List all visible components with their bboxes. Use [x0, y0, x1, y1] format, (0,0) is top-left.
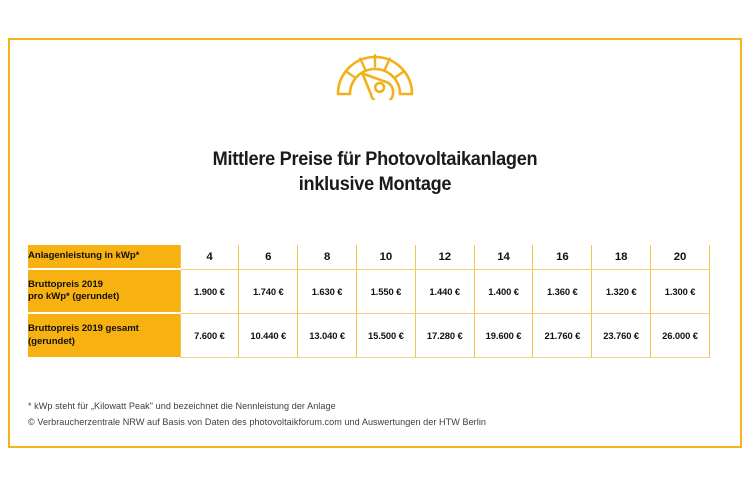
table-row-price-per-kwp: Bruttopreis 2019 pro kWp* (gerundet) 1.9… [28, 269, 710, 313]
col-header-10: 10 [357, 245, 416, 269]
footnote-kwp: * kWp steht für „Kilowatt Peak" und beze… [28, 398, 486, 414]
cell-perkwp-10: 1.550 € [357, 269, 416, 313]
icon-container [0, 38, 750, 100]
cell-perkwp-14: 1.400 € [474, 269, 533, 313]
col-header-12: 12 [415, 245, 474, 269]
row-label-price-per-kwp: Bruttopreis 2019 pro kWp* (gerundet) [28, 269, 180, 313]
footnotes: * kWp steht für „Kilowatt Peak" und beze… [28, 398, 486, 430]
col-header-16: 16 [533, 245, 592, 269]
title-line-1: Mittlere Preise für Photovoltaikanlagen [26, 147, 724, 172]
footnote-source: © Verbraucherzentrale NRW auf Basis von … [28, 414, 486, 430]
cell-perkwp-8: 1.630 € [298, 269, 357, 313]
row-label-price-total: Bruttopreis 2019 gesamt (gerundet) [28, 313, 180, 357]
cell-perkwp-18: 1.320 € [592, 269, 651, 313]
cell-total-20: 26.000 € [651, 313, 710, 357]
cell-total-4: 7.600 € [180, 313, 239, 357]
col-header-14: 14 [474, 245, 533, 269]
gauge-icon [332, 38, 418, 100]
cell-perkwp-6: 1.740 € [239, 269, 298, 313]
col-header-8: 8 [298, 245, 357, 269]
col-header-20: 20 [651, 245, 710, 269]
cell-perkwp-12: 1.440 € [415, 269, 474, 313]
price-table-container: Anlagenleistung in kWp* 4 6 8 10 12 14 1… [28, 245, 710, 358]
cell-total-18: 23.760 € [592, 313, 651, 357]
price-table: Anlagenleistung in kWp* 4 6 8 10 12 14 1… [28, 245, 710, 358]
cell-total-14: 19.600 € [474, 313, 533, 357]
cell-total-10: 15.500 € [357, 313, 416, 357]
row-label-capacity: Anlagenleistung in kWp* [28, 245, 180, 269]
col-header-6: 6 [239, 245, 298, 269]
page-title: Mittlere Preise für Photovoltaikanlagen … [26, 147, 724, 197]
col-header-18: 18 [592, 245, 651, 269]
cell-perkwp-20: 1.300 € [651, 269, 710, 313]
table-row-price-total: Bruttopreis 2019 gesamt (gerundet) 7.600… [28, 313, 710, 357]
table-row-header: Anlagenleistung in kWp* 4 6 8 10 12 14 1… [28, 245, 710, 269]
cell-total-16: 21.760 € [533, 313, 592, 357]
cell-total-8: 13.040 € [298, 313, 357, 357]
cell-total-6: 10.440 € [239, 313, 298, 357]
col-header-4: 4 [180, 245, 239, 269]
title-line-2: inklusive Montage [26, 172, 724, 197]
cell-perkwp-16: 1.360 € [533, 269, 592, 313]
cell-perkwp-4: 1.900 € [180, 269, 239, 313]
infographic-canvas: Mittlere Preise für Photovoltaikanlagen … [0, 0, 750, 482]
cell-total-12: 17.280 € [415, 313, 474, 357]
